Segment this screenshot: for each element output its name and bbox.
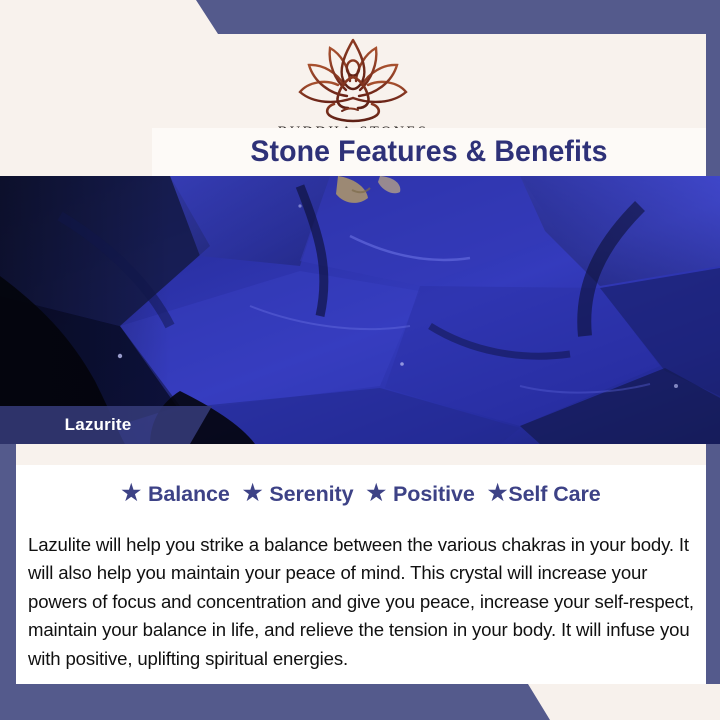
stone-name-plaque: Lazurite bbox=[0, 406, 212, 444]
stone-photo bbox=[0, 176, 720, 444]
figure-hands bbox=[342, 109, 358, 111]
stone-description: Lazulite will help you strike a balance … bbox=[28, 531, 696, 674]
infographic-page: BUDDHA STONES Stone Features & Benefits bbox=[0, 0, 720, 720]
stone-name: Lazurite bbox=[0, 406, 196, 444]
stone-photo-graphic bbox=[0, 176, 720, 444]
star-icon: ★ bbox=[243, 482, 263, 504]
lotus-meditation-icon bbox=[278, 32, 428, 124]
bottom-accent-banner bbox=[0, 684, 720, 720]
benefit-label: Balance bbox=[148, 482, 230, 507]
figure-legs bbox=[327, 104, 379, 121]
content-cream-strip bbox=[16, 444, 706, 465]
page-title-plaque: Stone Features & Benefits bbox=[152, 128, 706, 176]
benefit-item: ★ Self Care bbox=[488, 482, 601, 507]
star-icon: ★ bbox=[366, 482, 386, 504]
benefits-row: ★ Balance ★ Serenity ★ Positive ★ Self C… bbox=[16, 477, 706, 511]
benefit-item: ★ Serenity bbox=[243, 482, 354, 507]
benefit-item: ★ Balance bbox=[121, 482, 229, 507]
benefit-item: ★ Positive bbox=[366, 482, 474, 507]
star-icon: ★ bbox=[121, 482, 141, 504]
brand-logo: BUDDHA STONES bbox=[0, 32, 706, 140]
benefit-label: Positive bbox=[393, 482, 475, 507]
right-accent-strip bbox=[706, 0, 720, 176]
benefit-label: Self Care bbox=[508, 482, 600, 507]
figure-head bbox=[347, 60, 359, 75]
star-icon: ★ bbox=[488, 482, 508, 504]
benefit-label: Serenity bbox=[269, 482, 353, 507]
page-title: Stone Features & Benefits bbox=[166, 128, 692, 176]
